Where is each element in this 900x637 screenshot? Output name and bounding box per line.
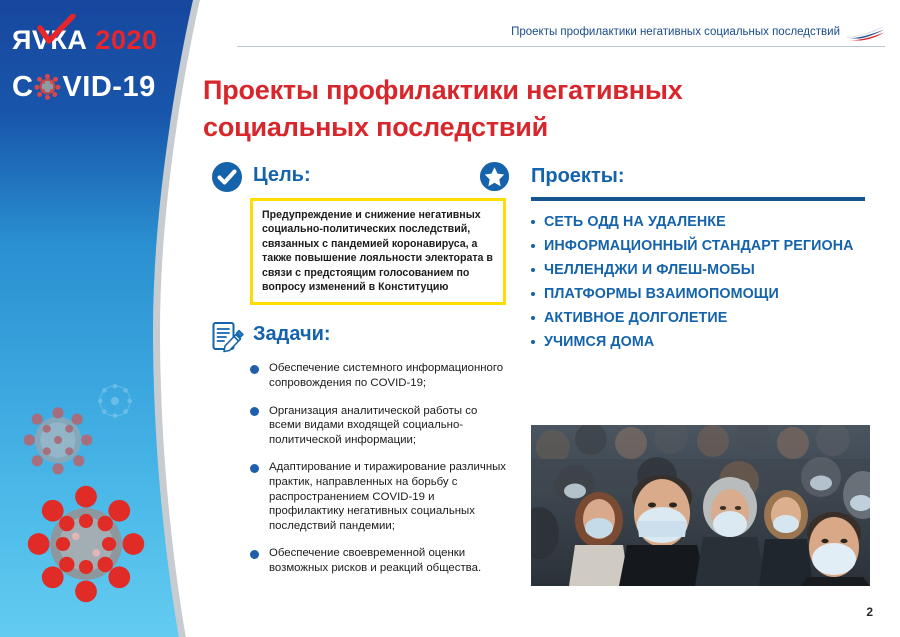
list-item: СЕТЬ ОДД НА УДАЛЕНКЕ bbox=[531, 214, 871, 232]
task-text: Обеспечение своевременной оценки возможн… bbox=[269, 547, 481, 574]
covid-letter-c: C bbox=[12, 71, 33, 103]
list-item: Обеспечение системного информационного с… bbox=[250, 361, 512, 390]
covid19-logo: C VID-19 bbox=[12, 70, 156, 104]
coronavirus-particle-icon bbox=[18, 400, 98, 480]
bullet-dot-icon bbox=[531, 340, 535, 344]
list-item: АКТИВНОЕ ДОЛГОЛЕТИЕ bbox=[531, 310, 871, 328]
task-text: Обеспечение системного информационного с… bbox=[269, 362, 503, 389]
tasks-list: Обеспечение системного информационного с… bbox=[250, 361, 512, 575]
crowd-photo-illustration bbox=[531, 425, 870, 586]
header-divider bbox=[237, 46, 885, 47]
projects-divider bbox=[531, 197, 865, 201]
page-title: Проекты профилактики негативных социальн… bbox=[203, 72, 763, 146]
bullet-dot-icon bbox=[250, 365, 259, 374]
header-title: Проекты профилактики негативных социальн… bbox=[511, 24, 840, 40]
tasks-heading: Задачи: bbox=[253, 318, 331, 350]
bullet-dot-icon bbox=[531, 292, 535, 296]
project-text: СЕТЬ ОДД НА УДАЛЕНКЕ bbox=[544, 214, 726, 230]
yavka-year: 2020 bbox=[95, 25, 157, 55]
task-text: Адаптирование и тиражирование различных … bbox=[269, 461, 506, 531]
project-text: АКТИВНОЕ ДОЛГОЛЕТИЕ bbox=[544, 310, 727, 326]
projects-heading: Проекты: bbox=[531, 163, 871, 189]
bullet-dot-icon bbox=[531, 244, 535, 248]
page-number: 2 bbox=[866, 605, 873, 619]
right-content-column: Проекты: СЕТЬ ОДД НА УДАЛЕНКЕ ИНФОРМАЦИО… bbox=[531, 163, 871, 358]
goal-heading: Цель: bbox=[253, 159, 311, 191]
check-circle-icon bbox=[210, 160, 244, 194]
projects-list: СЕТЬ ОДД НА УДАЛЕНКЕ ИНФОРМАЦИОННЫЙ СТАН… bbox=[531, 214, 871, 352]
left-content-column: Цель: Предупреждение и снижение негативн… bbox=[210, 160, 510, 589]
coronavirus-particle-icon bbox=[22, 480, 150, 608]
bullet-dot-icon bbox=[250, 464, 259, 473]
goal-text-box: Предупреждение и снижение негативных соц… bbox=[250, 198, 506, 305]
bullet-dot-icon bbox=[531, 220, 535, 224]
yavka-word: ЯVКА bbox=[12, 25, 87, 55]
crowd-wearing-masks-photo bbox=[531, 425, 870, 586]
bullet-dot-icon bbox=[531, 268, 535, 272]
project-text: ПЛАТФОРМЫ ВЗАИМОПОМОЩИ bbox=[544, 286, 779, 302]
goal-text: Предупреждение и снижение негативных соц… bbox=[262, 208, 494, 294]
list-item: УЧИМСЯ ДОМА bbox=[531, 334, 871, 352]
list-item: Организация аналитической работы со всем… bbox=[250, 404, 512, 448]
bullet-dot-icon bbox=[250, 550, 259, 559]
yavka-logo: ЯVКА 2020 bbox=[12, 24, 182, 56]
yavka-logo-text: ЯVКА 2020 bbox=[12, 24, 182, 56]
document-pencil-icon bbox=[210, 319, 244, 353]
goal-section-header: Цель: bbox=[210, 160, 510, 194]
task-text: Организация аналитической работы со всем… bbox=[269, 405, 477, 446]
bullet-dot-icon bbox=[531, 316, 535, 320]
list-item: ЧЕЛЛЕНДЖИ И ФЛЕШ-МОБЫ bbox=[531, 262, 871, 280]
coronavirus-particle-icon bbox=[92, 378, 138, 424]
list-item: Адаптирование и тиражирование различных … bbox=[250, 460, 512, 533]
list-item: ПЛАТФОРМЫ ВЗАИМОПОМОЩИ bbox=[531, 286, 871, 304]
project-text: ИНФОРМАЦИОННЫЙ СТАНДАРТ РЕГИОНА bbox=[544, 238, 854, 254]
left-sidebar: ЯVКА 2020 C VID-19 bbox=[0, 0, 230, 637]
list-item: Обеспечение своевременной оценки возможн… bbox=[250, 546, 512, 575]
tasks-section-header: Задачи: bbox=[210, 319, 510, 353]
project-text: ЧЕЛЛЕНДЖИ И ФЛЕШ-МОБЫ bbox=[544, 262, 755, 278]
coronavirus-particle-icon bbox=[33, 72, 62, 101]
list-item: ИНФОРМАЦИОННЫЙ СТАНДАРТ РЕГИОНА bbox=[531, 238, 871, 256]
russian-flag-swoosh-icon bbox=[845, 26, 885, 42]
slide-header: Проекты профилактики негативных социальн… bbox=[237, 24, 885, 58]
covid-letters-rest: VID-19 bbox=[62, 71, 155, 103]
project-text: УЧИМСЯ ДОМА bbox=[544, 334, 654, 350]
bullet-dot-icon bbox=[250, 407, 259, 416]
star-circle-icon bbox=[478, 160, 511, 193]
